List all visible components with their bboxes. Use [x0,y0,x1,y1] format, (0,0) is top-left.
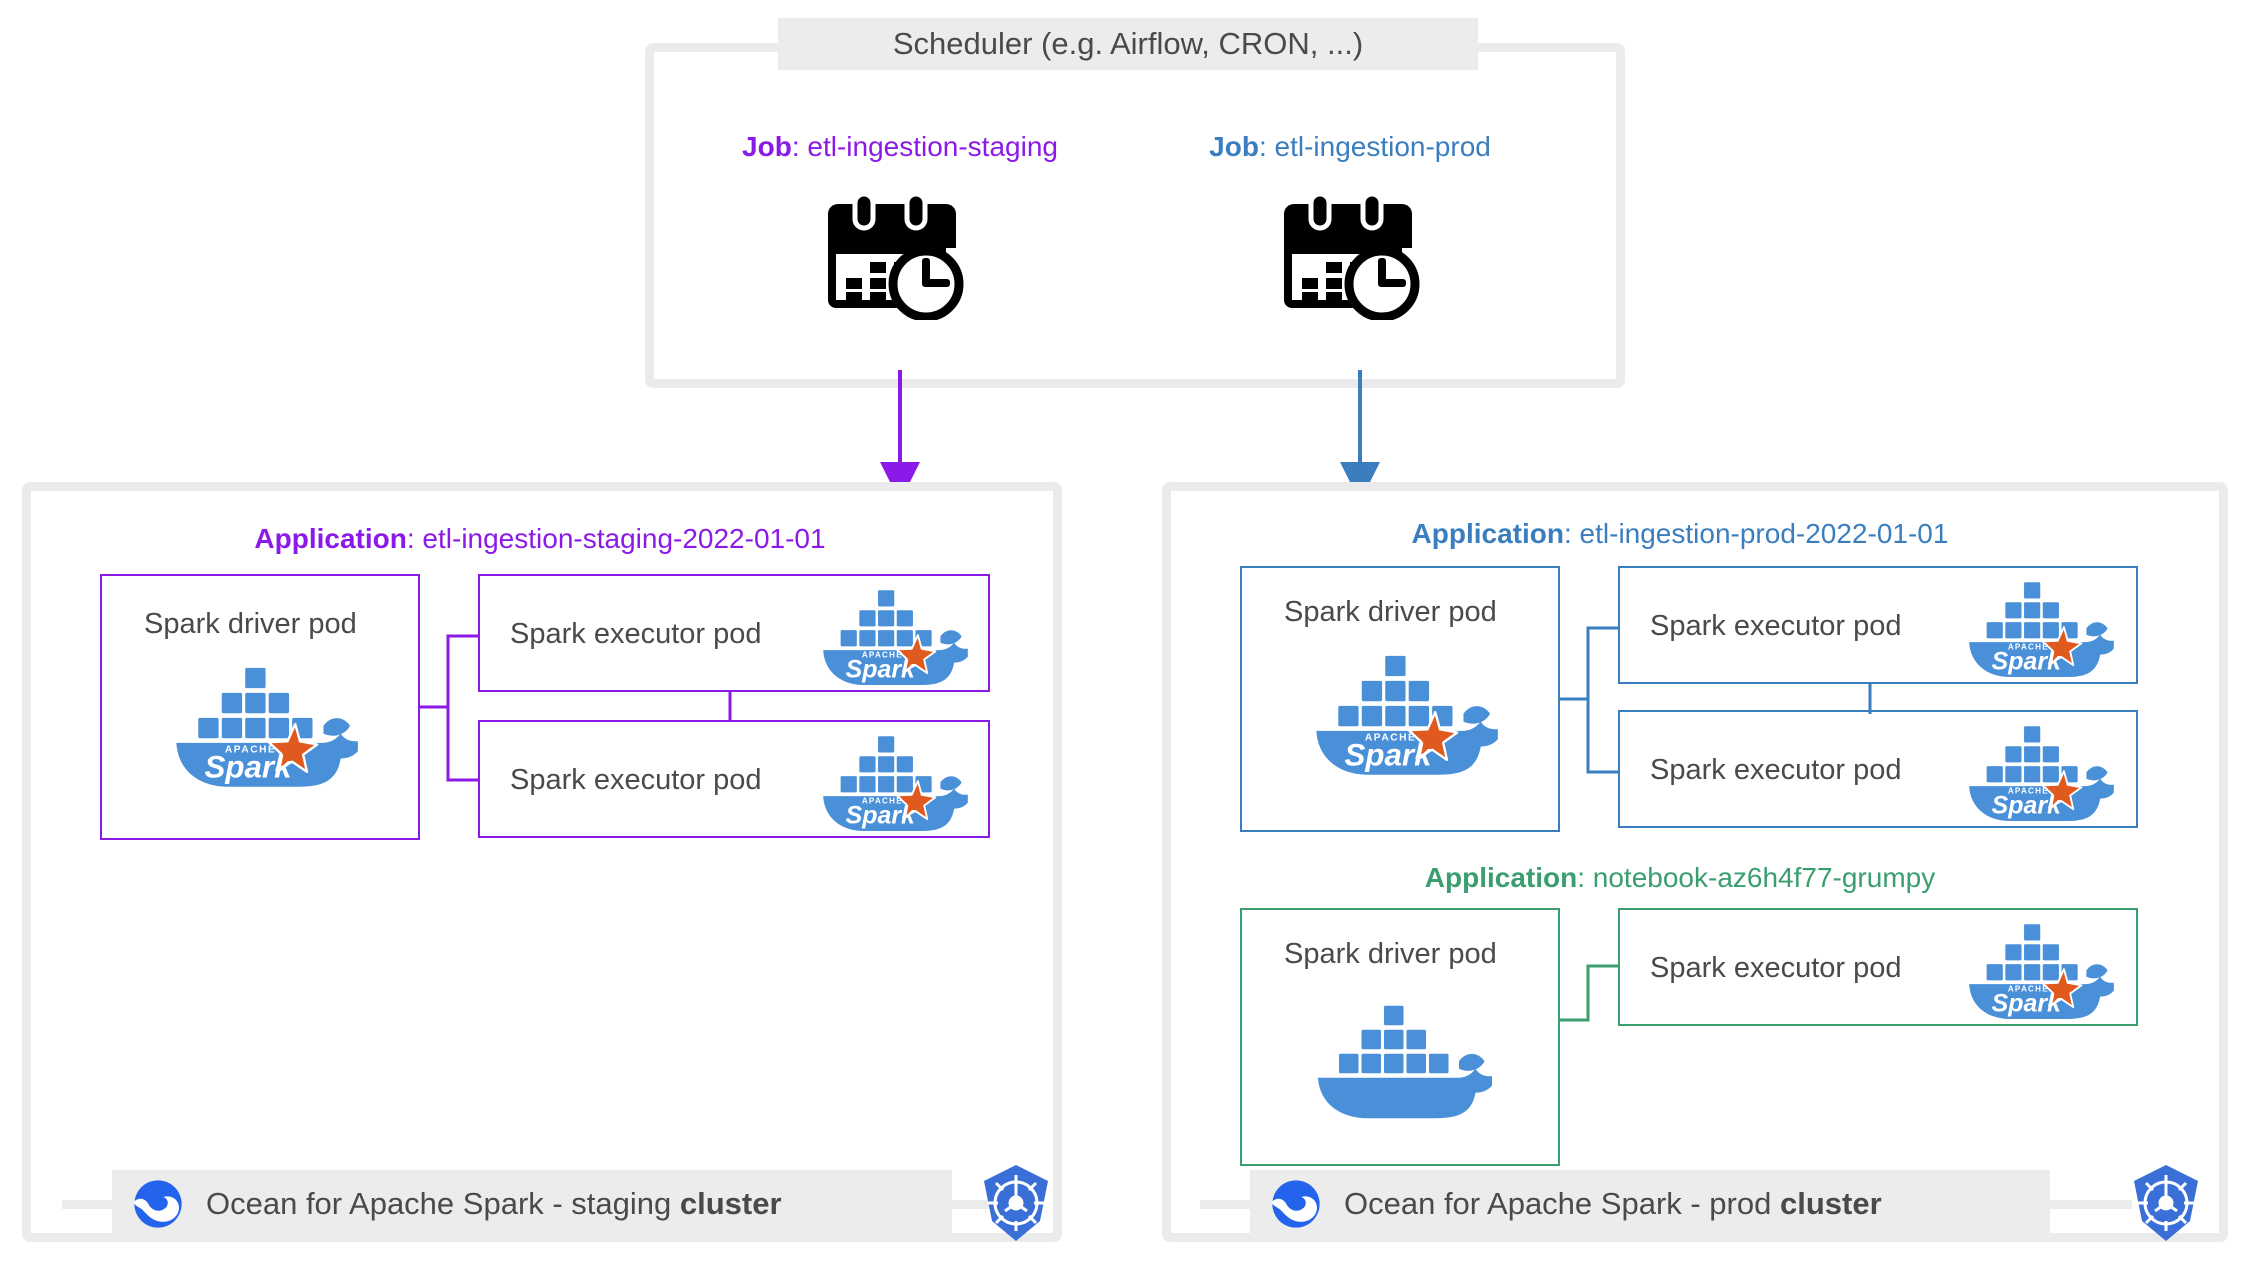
application-staging-title: Application: etl-ingestion-staging-2022-… [110,523,970,555]
pod-label: Spark executor pod [510,618,761,651]
scheduler-container [645,43,1625,388]
docker-spark-whale-icon [1964,576,2114,682]
pod-label: Spark driver pod [144,608,357,641]
application-prod-name: etl-ingestion-prod-2022-01-01 [1580,518,1949,549]
docker-whale-icon [1312,992,1492,1120]
footer-plain-text: Ocean for Apache Spark - prod [1344,1186,1780,1221]
ocean-logo [1268,1176,1324,1232]
pod-prod-executor-1[interactable]: Spark executor pod [1618,566,2138,684]
diagram-canvas: Scheduler (e.g. Airflow, CRON, ...) Job:… [0,0,2248,1262]
job-staging-name: etl-ingestion-staging [807,131,1058,162]
application-staging-name: etl-ingestion-staging-2022-01-01 [422,523,825,554]
application-prod-prefix: Application [1412,518,1564,549]
footer-bold-text: cluster [1780,1186,1882,1221]
docker-spark-whale-icon [818,730,968,836]
calendar-clock-icon [822,192,972,320]
application-staging-prefix: Application [254,523,406,554]
pod-notebook-driver[interactable]: Spark driver pod [1240,908,1560,1166]
pod-staging-driver[interactable]: Spark driver pod [100,574,420,840]
cluster-prod-footer-label: Ocean for Apache Spark - prod cluster [1344,1186,1882,1222]
arrow-scheduler-to-staging [860,370,940,500]
connector-notebook-driver-executor [1558,950,1622,1070]
footer-plain-text: Ocean for Apache Spark - staging [206,1186,680,1221]
pod-label: Spark driver pod [1284,596,1497,629]
pod-staging-executor-1[interactable]: Spark executor pod [478,574,990,692]
footer-connector-right [2046,1200,2132,1209]
pod-label: Spark executor pod [1650,952,1901,985]
connector-staging-executor-chain [700,688,760,728]
footer-connector-left [1200,1200,1256,1209]
kubernetes-icon [2128,1163,2204,1243]
job-prod-name: etl-ingestion-prod [1275,131,1491,162]
application-prod-separator: : [1564,518,1580,549]
cluster-prod-footer: Ocean for Apache Spark - prod cluster [1250,1170,2050,1238]
job-staging-prefix: Job [742,131,792,162]
application-prod-title: Application: etl-ingestion-prod-2022-01-… [1230,518,2130,550]
job-prod-prefix: Job [1209,131,1259,162]
docker-spark-whale-icon [170,660,358,793]
application-notebook-name: notebook-az6h4f77-grumpy [1593,862,1935,893]
docker-spark-whale-icon [1964,720,2114,826]
arrow-scheduler-to-prod [1320,370,1400,500]
job-prod-label: Job: etl-ingestion-prod [1170,131,1530,163]
footer-connector-left [62,1200,118,1209]
application-notebook-prefix: Application [1425,862,1577,893]
calendar-clock-icon [1278,192,1428,320]
pod-prod-driver[interactable]: Spark driver pod [1240,566,1560,832]
pod-staging-executor-2[interactable]: Spark executor pod [478,720,990,838]
job-staging-label: Job: etl-ingestion-staging [700,131,1100,163]
docker-spark-whale-icon [1310,648,1498,781]
application-notebook-separator: : [1577,862,1593,893]
cluster-staging-footer-label: Ocean for Apache Spark - staging cluster [206,1186,782,1222]
pod-label: Spark driver pod [1284,938,1497,971]
docker-spark-whale-icon [818,584,968,690]
application-notebook-title: Application: notebook-az6h4f77-grumpy [1230,862,2130,894]
footer-bold-text: cluster [680,1186,782,1221]
pod-label: Spark executor pod [510,764,761,797]
job-staging-separator: : [792,131,808,162]
job-prod-separator: : [1259,131,1275,162]
ocean-logo [130,1176,186,1232]
application-staging-separator: : [407,523,423,554]
cluster-staging-footer: Ocean for Apache Spark - staging cluster [112,1170,952,1238]
connector-prod-driver-executors [1558,562,1622,838]
docker-spark-whale-icon [1964,918,2114,1024]
connector-staging-driver-executors [418,570,482,846]
pod-prod-executor-2[interactable]: Spark executor pod [1618,710,2138,828]
pod-notebook-executor-1[interactable]: Spark executor pod [1618,908,2138,1026]
kubernetes-icon [978,1163,1054,1243]
scheduler-title: Scheduler (e.g. Airflow, CRON, ...) [778,18,1478,70]
pod-label: Spark executor pod [1650,754,1901,787]
pod-label: Spark executor pod [1650,610,1901,643]
connector-prod-executor-chain [1840,680,1900,720]
